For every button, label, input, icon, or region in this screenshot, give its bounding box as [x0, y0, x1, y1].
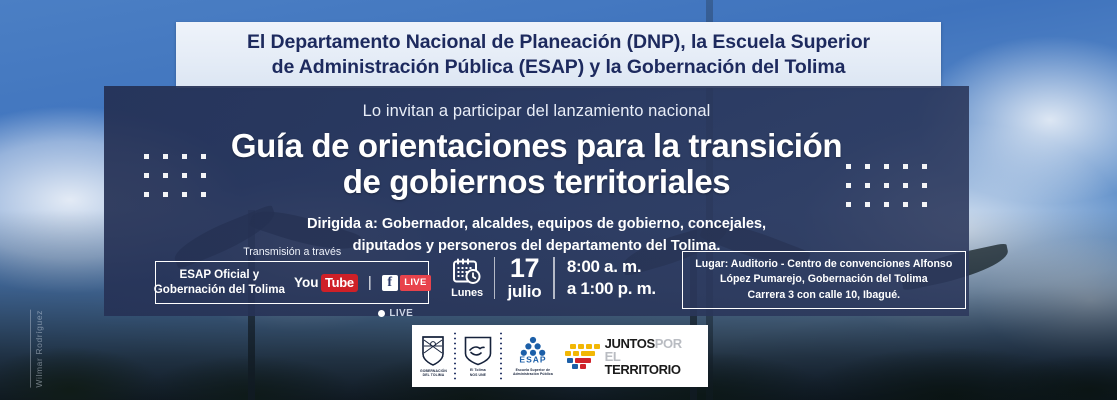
audience-line-1: Dirigida a: Gobernador, alcaldes, equipo… [307, 216, 766, 232]
broadcast-block: Transmisión a través ESAP Oficial y Gobe… [155, 246, 429, 304]
logo-separator-dotted [500, 331, 502, 381]
ribbon [0, 0, 1117, 15]
live-indicator: LIVE [378, 308, 413, 319]
logo-caption: Escuela Superior de Administración Públi… [513, 368, 553, 377]
event-title-line-2: de gobiernos territoriales [104, 164, 969, 200]
youtube-logo-icon[interactable]: YouTube [294, 274, 358, 292]
live-dot-icon [378, 310, 385, 317]
broadcast-label: Transmisión a través [155, 246, 429, 258]
logo-esap: ESAP Escuela Superior de Administración … [513, 336, 553, 377]
broadcast-box: ESAP Oficial y Gobernación del Tolima Yo… [155, 261, 429, 304]
time-end: a 1:00 p. m. [567, 279, 656, 298]
logo-caption: El Tolima NOS UNE [470, 368, 486, 377]
broadcast-channels: ESAP Oficial y Gobernación del Tolima [154, 268, 285, 298]
broadcast-channel-line-2: Gobernación del Tolima [154, 283, 285, 296]
juntos-mark-icon [565, 341, 599, 371]
logo-caption-line-2: NOS UNE [470, 373, 486, 377]
youtube-you-text: You [294, 275, 319, 290]
month-name: julio [507, 283, 541, 300]
facebook-live-badge: LIVE [400, 275, 430, 291]
weekday-label: Lunes [451, 287, 483, 299]
svg-text:ESAP: ESAP [519, 354, 546, 364]
panel-text-block: Lo invitan a participar del lanzamiento … [104, 86, 969, 257]
organizers-heading: El Departamento Nacional de Planeación (… [239, 30, 878, 80]
logo-caption: GOBERNACIÓN DEL TOLIMA [420, 369, 447, 378]
invitation-kicker: Lo invitan a participar del lanzamiento … [104, 102, 969, 121]
event-title: Guía de orientaciones para la transición… [104, 128, 969, 199]
venue-line-1: Lugar: Auditorio - Centro de convencione… [695, 258, 952, 270]
juntos-wordmark: JUNTOSPOR EL TERRITORIO [605, 337, 700, 376]
time-range: 8:00 a. m. a 1:00 p. m. [555, 256, 656, 299]
sponsor-logo-bar: GOBERNACIÓN DEL TOLIMA El Tolima NOS UNE [412, 325, 708, 387]
photo-credit: Wilmar Rodríguez [30, 310, 44, 388]
date-number-block: 17 julio [495, 255, 553, 300]
juntos-word-2: TERRITORIO [605, 363, 700, 376]
handshake-shield-icon [463, 335, 493, 366]
organizers-line-2: de Administración Pública (ESAP) y la Go… [272, 56, 846, 78]
live-indicator-label: LIVE [389, 308, 413, 319]
esap-pyramid-icon: ESAP [513, 336, 553, 366]
youtube-tube-text: Tube [321, 274, 358, 292]
facebook-live-logo-icon[interactable]: f LIVE [382, 275, 431, 291]
facebook-f-icon: f [382, 275, 398, 291]
venue-line-2: López Pumarejo, Gobernación del Tolima [720, 273, 928, 285]
calendar-block: Lunes [451, 257, 494, 299]
time-start: 8:00 a. m. [567, 257, 642, 276]
logo-gobernacion-del-tolima: GOBERNACIÓN DEL TOLIMA [420, 335, 447, 378]
event-title-line-1: Guía de orientaciones para la transición [231, 127, 842, 164]
broadcast-channel-line-1: ESAP Oficial y [180, 268, 260, 281]
logo-el-tolima-nos-une: El Tolima NOS UNE [463, 335, 493, 377]
calendar-clock-icon [452, 257, 482, 286]
promotional-banner: Wilmar Rodríguez El Departamento Naciona… [0, 0, 1117, 400]
tolima-coat-of-arms-icon [420, 335, 446, 367]
logo-caption-line-2: Administración Pública [513, 372, 553, 376]
venue-line-3: Carrera 3 con calle 10, Ibagué. [748, 289, 901, 301]
organizers-line-1: El Departamento Nacional de Planeación (… [247, 31, 870, 53]
logo-separator: | [368, 274, 372, 291]
day-number: 17 [507, 255, 541, 282]
content-panel: Lo invitan a participar del lanzamiento … [104, 86, 969, 316]
event-details-row: Transmisión a través ESAP Oficial y Gobe… [104, 246, 969, 309]
logo-caption-line-2: DEL TOLIMA [423, 373, 445, 377]
logo-juntos-por-el-territorio: JUNTOSPOR EL TERRITORIO [565, 337, 700, 376]
venue-box: Lugar: Auditorio - Centro de convencione… [682, 251, 966, 309]
date-time-block: Lunes 17 julio 8:00 a. m. a 1:00 p. m. [451, 255, 656, 300]
header-band: El Departamento Nacional de Planeación (… [176, 22, 941, 88]
logo-separator-dotted [454, 331, 456, 381]
